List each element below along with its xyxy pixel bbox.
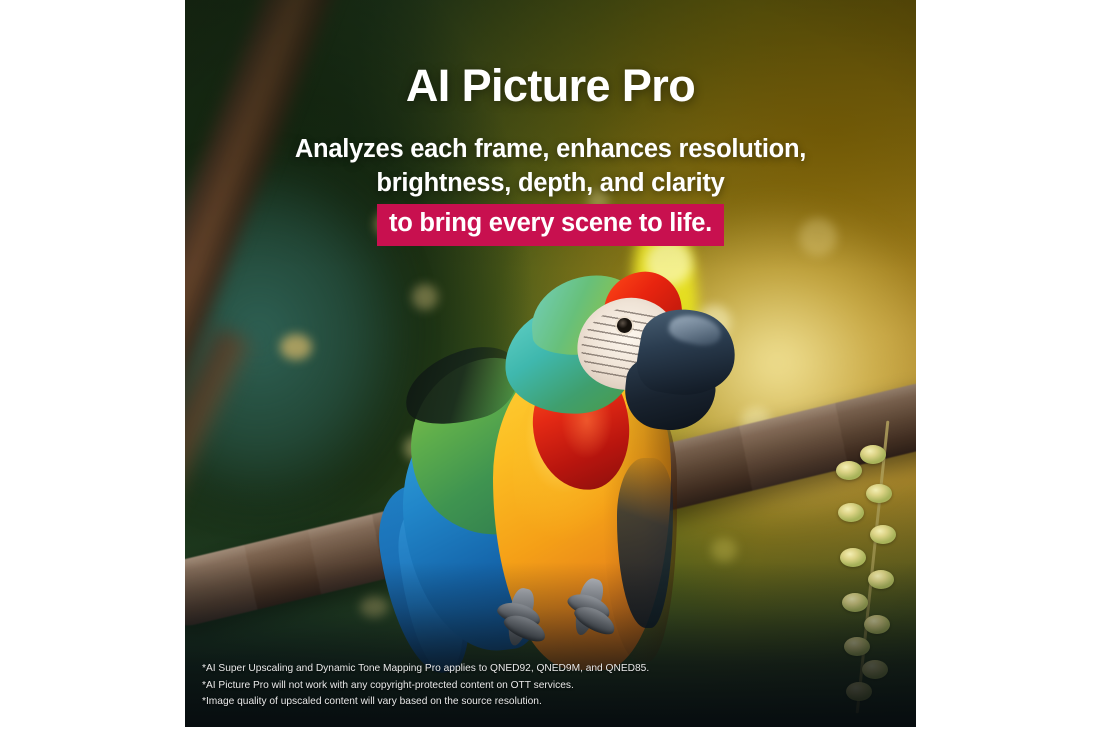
hero-subtitle: Analyzes each frame, enhances resolution… [185, 133, 916, 247]
seed-pod [842, 593, 868, 612]
seed-pod-cluster [820, 407, 916, 727]
hero-banner: AI Picture Pro Analyzes each frame, enha… [185, 0, 916, 727]
subtitle-line-2: brightness, depth, and clarity [185, 167, 916, 201]
page-title: AI Picture Pro [185, 62, 916, 111]
seed-pod [844, 637, 870, 656]
seed-pod [840, 548, 866, 567]
footnote-block: *AI Super Upscaling and Dynamic Tone Map… [202, 661, 649, 711]
seed-pod [862, 660, 888, 679]
seed-pod [866, 484, 892, 503]
footnote-item: *AI Picture Pro will not work with any c… [202, 678, 649, 695]
highlight-badge: to bring every scene to life. [377, 204, 724, 246]
parrot-eye [617, 318, 632, 333]
highlight-wrapper: to bring every scene to life. [185, 204, 916, 246]
seed-pod [836, 461, 862, 480]
seed-pod [864, 615, 890, 634]
footnote-item: *Image quality of upscaled content will … [202, 694, 649, 711]
footnote-item: *AI Super Upscaling and Dynamic Tone Map… [202, 661, 649, 678]
seed-pod [846, 682, 872, 701]
seed-pod [868, 570, 894, 589]
subtitle-line-1: Analyzes each frame, enhances resolution… [185, 133, 916, 167]
seed-pod [838, 503, 864, 522]
seed-pod [870, 525, 896, 544]
macaw-parrot [381, 252, 681, 672]
page-root: AI Picture Pro Analyzes each frame, enha… [0, 0, 1100, 730]
hero-copy: AI Picture Pro Analyzes each frame, enha… [185, 0, 916, 246]
